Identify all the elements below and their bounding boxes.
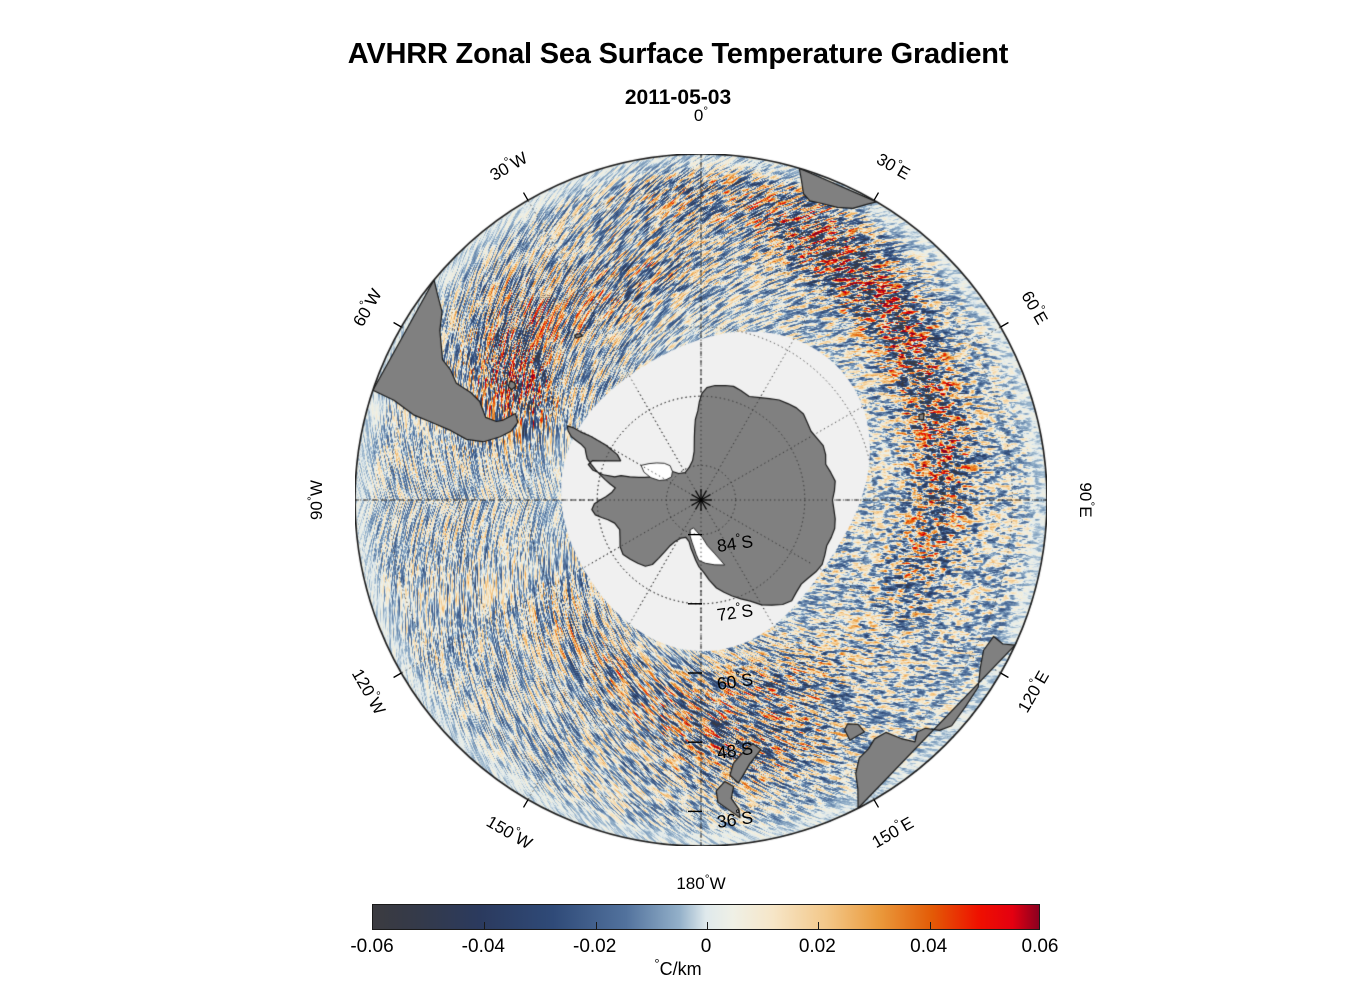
lat-label--84: 84°S [716, 531, 755, 557]
colorbar-ticklabel-2: -0.02 [573, 936, 616, 958]
page-title: AVHRR Zonal Sea Surface Temperature Grad… [0, 38, 1356, 71]
colorbar-ticklabel-4: 0.02 [799, 936, 836, 958]
lon-tick--120 [394, 673, 402, 678]
lon-label--90: 90°W [307, 480, 327, 520]
colorbar-ticklabel-0: -0.06 [350, 936, 393, 958]
lon-tick-60 [1001, 323, 1009, 328]
lon-tick--150 [524, 800, 529, 808]
colorbar-unit-label: °C/km [0, 959, 1356, 980]
lon-tick--60 [394, 323, 402, 328]
colorbar-tick-5 [930, 922, 931, 929]
colorbar-tick-2 [596, 922, 597, 929]
colorbar-ticklabel-3: 0 [701, 936, 712, 958]
colorbar-gradient [372, 904, 1040, 930]
lon-label-180: 180°W [676, 874, 725, 894]
colorbar-unit-text: C/km [660, 959, 702, 979]
colorbar-ticklabel-5: 0.04 [910, 936, 947, 958]
colorbar-ticklabel-6: 0.06 [1022, 936, 1059, 958]
page-subtitle-date: 2011-05-03 [0, 86, 1356, 110]
colorbar[interactable] [372, 904, 1040, 930]
colorbar-tick-3 [707, 922, 708, 929]
lon-tick-30 [874, 193, 879, 201]
polar-map[interactable] [355, 154, 1047, 846]
colorbar-ticklabel-1: -0.04 [462, 936, 505, 958]
colorbar-tick-4 [818, 922, 819, 929]
lon-tick--30 [524, 193, 529, 201]
lon-tick-150 [874, 800, 879, 808]
lon-label-0: 0° [694, 106, 708, 126]
colorbar-tick-1 [484, 922, 485, 929]
lon-tick-120 [1001, 673, 1009, 678]
lon-label-90: 90°E [1075, 482, 1095, 517]
figure-panel: AVHRR Zonal Sea Surface Temperature Grad… [0, 0, 1356, 1000]
map-graticule-overlay [355, 154, 1047, 846]
